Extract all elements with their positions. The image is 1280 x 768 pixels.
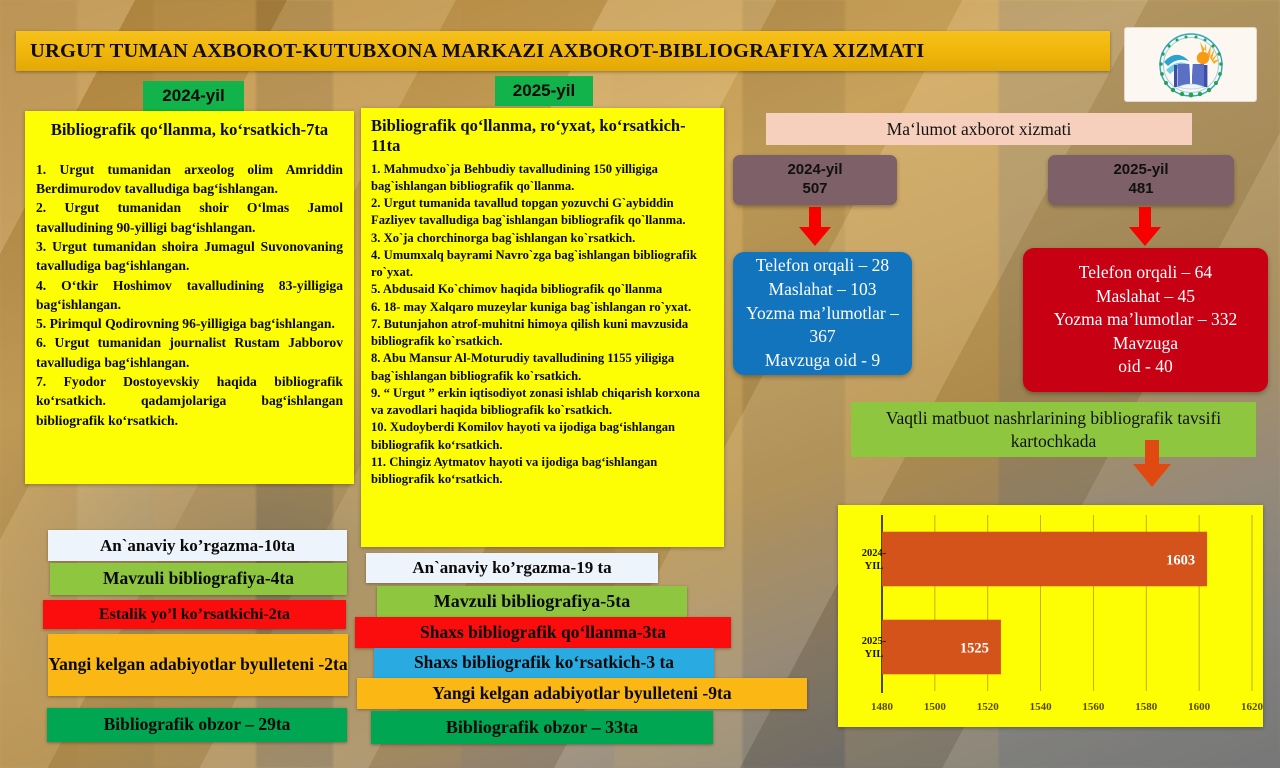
list-item: 10. Xudoyberdi Komilov hayoti va ijodiga…	[371, 419, 714, 454]
stat-bar-label: Yangi kelgan adabiyotlar byulleteni -2ta	[48, 655, 347, 675]
list-item: 4. O‘tkir Hoshimov tavalludining 83-yill…	[36, 276, 343, 315]
chart-x-tick: 1540	[1030, 701, 1053, 713]
list-item: 2. Urgut tumanidan shoir O‘lmas Jamol ta…	[36, 198, 343, 237]
chart-category-label: 2025-	[862, 636, 887, 647]
periodicals-card-description-label: Vaqtli matbuot nashrlarining bibliografi…	[851, 407, 1256, 453]
info-service-2024-breakdown: Telefon orqali – 28Maslahat – 103Yozma m…	[733, 252, 912, 375]
chart-category-label: YIL	[865, 561, 884, 572]
chart-x-tick: 1480	[871, 701, 894, 713]
stat-bar-label: Mavzuli bibliografiya-4ta	[103, 569, 294, 589]
stat-bar-bibliographic-review-2025: Bibliografik obzor – 33ta	[371, 711, 713, 744]
chart-data-label: 1525	[960, 641, 989, 657]
stat-bar-label: Yangi kelgan adabiyotlar byulleteni -9ta	[432, 684, 731, 704]
list-item: 6. 18- may Xalqaro muzeylar kuniga bag`i…	[371, 299, 714, 316]
page-title: URGUT TUMAN AXBOROT-KUTUBXONA MARKAZI AX…	[16, 31, 1110, 71]
stat-bar-personal-bibliography-index-2025: Shaxs bibliografik ko‘rsatkich-3 ta	[374, 648, 714, 678]
chart-bar	[882, 532, 1207, 587]
panel-mid-heading: Bibliografik qo‘llanma, ro‘yxat, ko‘rsat…	[371, 116, 714, 156]
panel-mid-list: 1. Mahmudxo`ja Behbudiy tavalludining 15…	[371, 161, 714, 489]
list-item: 9. “ Urgut ” erkin iqtisodiyot zonasi is…	[371, 385, 714, 420]
down-arrow-icon	[798, 207, 832, 247]
stat-bar-label: An`anaviy ko’rgazma-10ta	[100, 536, 295, 555]
info-service-2025-total: 481	[1128, 180, 1153, 199]
stat-bar-traditional-exhibition-2024: An`anaviy ko’rgazma-10ta	[48, 530, 347, 561]
list-item: 11. Chingiz Aytmatov hayoti va ijodiga b…	[371, 454, 714, 489]
list-item: 2. Urgut tumanida tavallud topgan yozuvc…	[371, 195, 714, 230]
info-service-2025-year: 2025-yil	[1113, 161, 1168, 180]
panel-left-heading: Bibliografik qo‘llanma, ko‘rsatkich-7ta	[36, 120, 343, 140]
stat-bar-traditional-exhibition-2025: An`anaviy ko’rgazma-19 ta	[366, 553, 658, 583]
page-title-text: URGUT TUMAN AXBOROT-KUTUBXONA MARKAZI AX…	[30, 40, 924, 63]
info-service-2025-box: 2025-yil 481	[1048, 155, 1234, 205]
list-item: 1. Urgut tumanidan arxeolog olim Amriddi…	[36, 160, 343, 199]
stat-bar-memorial-guide-2024: Estalik yo’l ko’rsatkichi-2ta	[43, 600, 346, 629]
list-item: 1. Mahmudxo`ja Behbudiy tavalludining 15…	[371, 161, 714, 196]
stat-bar-new-books-bulletin-2025: Yangi kelgan adabiyotlar byulleteni -9ta	[357, 678, 807, 709]
chart-x-tick: 1580	[1135, 701, 1158, 713]
list-item: 8. Abu Mansur Al-Moturudiy tavalludining…	[371, 350, 714, 385]
chart-category-label: YIL	[865, 649, 884, 660]
year-tab-2024-label: 2024-yil	[162, 86, 224, 106]
list-item: 7. Fyodor Dostoyevskiy haqida bibliograf…	[36, 372, 343, 430]
info-service-header: Ma‘lumot axborot xizmati	[766, 113, 1192, 145]
list-item: 4. Umumxalq bayrami Navro`zga bag`ishlan…	[371, 247, 714, 282]
chart-x-tick: 1560	[1082, 701, 1105, 713]
stat-bar-label: Estalik yo’l ko’rsatkichi-2ta	[99, 606, 290, 624]
info-service-2024-year: 2024-yil	[787, 161, 842, 180]
chart-x-tick: 1520	[977, 701, 1000, 713]
list-item: 3. Urgut tumanidan shoira Jumagul Suvono…	[36, 237, 343, 276]
chart-x-tick: 1500	[924, 701, 947, 713]
stat-bar-label: Mavzuli bibliografiya-5ta	[434, 591, 631, 611]
chart-category-label: 2024-	[862, 548, 887, 559]
stat-bar-new-books-bulletin-2024: Yangi kelgan adabiyotlar byulleteni -2ta	[48, 634, 348, 696]
list-item: 5. Abdusaid Ko`chimov haqida bibliografi…	[371, 281, 714, 298]
info-service-2024-total: 507	[802, 180, 827, 199]
year-tab-2024[interactable]: 2024-yil	[143, 81, 244, 111]
year-tab-2025-label: 2025-yil	[513, 81, 575, 101]
stat-bar-label: Shaxs bibliografik qo‘llanma-3ta	[420, 623, 666, 643]
stat-bar-label: Bibliografik obzor – 33ta	[446, 717, 638, 737]
year-tab-2025[interactable]: 2025-yil	[495, 76, 593, 106]
list-item: 5. Pirimqul Qodirovning 96-yilligiga bag…	[36, 314, 343, 333]
stat-bar-label: An`anaviy ko’rgazma-19 ta	[412, 558, 611, 577]
panel-2024-publications: Bibliografik qo‘llanma, ko‘rsatkich-7ta …	[25, 111, 354, 484]
stat-bar-thematic-bibliography-2025: Mavzuli bibliografiya-5ta	[377, 586, 687, 617]
down-arrow-icon	[1128, 207, 1162, 247]
stat-bar-label: Bibliografik obzor – 29ta	[104, 715, 291, 735]
stat-bar-thematic-bibliography-2024: Mavzuli bibliografiya-4ta	[50, 563, 347, 595]
down-arrow-icon	[1132, 440, 1172, 488]
info-service-2025-breakdown: Telefon orqali – 64Maslahat – 45Yozma ma…	[1023, 248, 1268, 392]
chart-x-tick: 1620	[1241, 701, 1263, 713]
list-item: 6. Urgut tumanidan journalist Rustam Jab…	[36, 333, 343, 372]
info-service-2024-breakdown-text: Telefon orqali – 28Maslahat – 103Yozma m…	[733, 254, 912, 372]
list-item: 7. Butunjahon atrof-muhitni himoya qilis…	[371, 316, 714, 351]
library-emblem-icon	[1124, 27, 1257, 102]
info-service-header-label: Ma‘lumot axborot xizmati	[887, 119, 1072, 140]
info-service-2024-box: 2024-yil 507	[733, 155, 897, 205]
info-service-2025-breakdown-text: Telefon orqali – 64Maslahat – 45Yozma ma…	[1054, 261, 1237, 379]
stat-bar-personal-bibliography-guide-2025: Shaxs bibliografik qo‘llanma-3ta	[355, 617, 731, 648]
panel-left-list: 1. Urgut tumanidan arxeolog olim Amriddi…	[36, 160, 343, 430]
panel-2025-publications: Bibliografik qo‘llanma, ro‘yxat, ko‘rsat…	[361, 108, 724, 547]
periodicals-bar-chart: 1480150015201540156015801600162016032024…	[838, 505, 1263, 727]
chart-data-label: 1603	[1166, 553, 1195, 569]
periodicals-card-description-band: Vaqtli matbuot nashrlarining bibliografi…	[851, 402, 1256, 457]
list-item: 3. Xo`ja chorchinorga bag`ishlangan ko`r…	[371, 230, 714, 247]
stat-bar-bibliographic-review-2024: Bibliografik obzor – 29ta	[47, 708, 347, 742]
chart-canvas: 1480150015201540156015801600162016032024…	[838, 505, 1263, 727]
stat-bar-label: Shaxs bibliografik ko‘rsatkich-3 ta	[414, 653, 674, 673]
chart-x-tick: 1600	[1188, 701, 1211, 713]
